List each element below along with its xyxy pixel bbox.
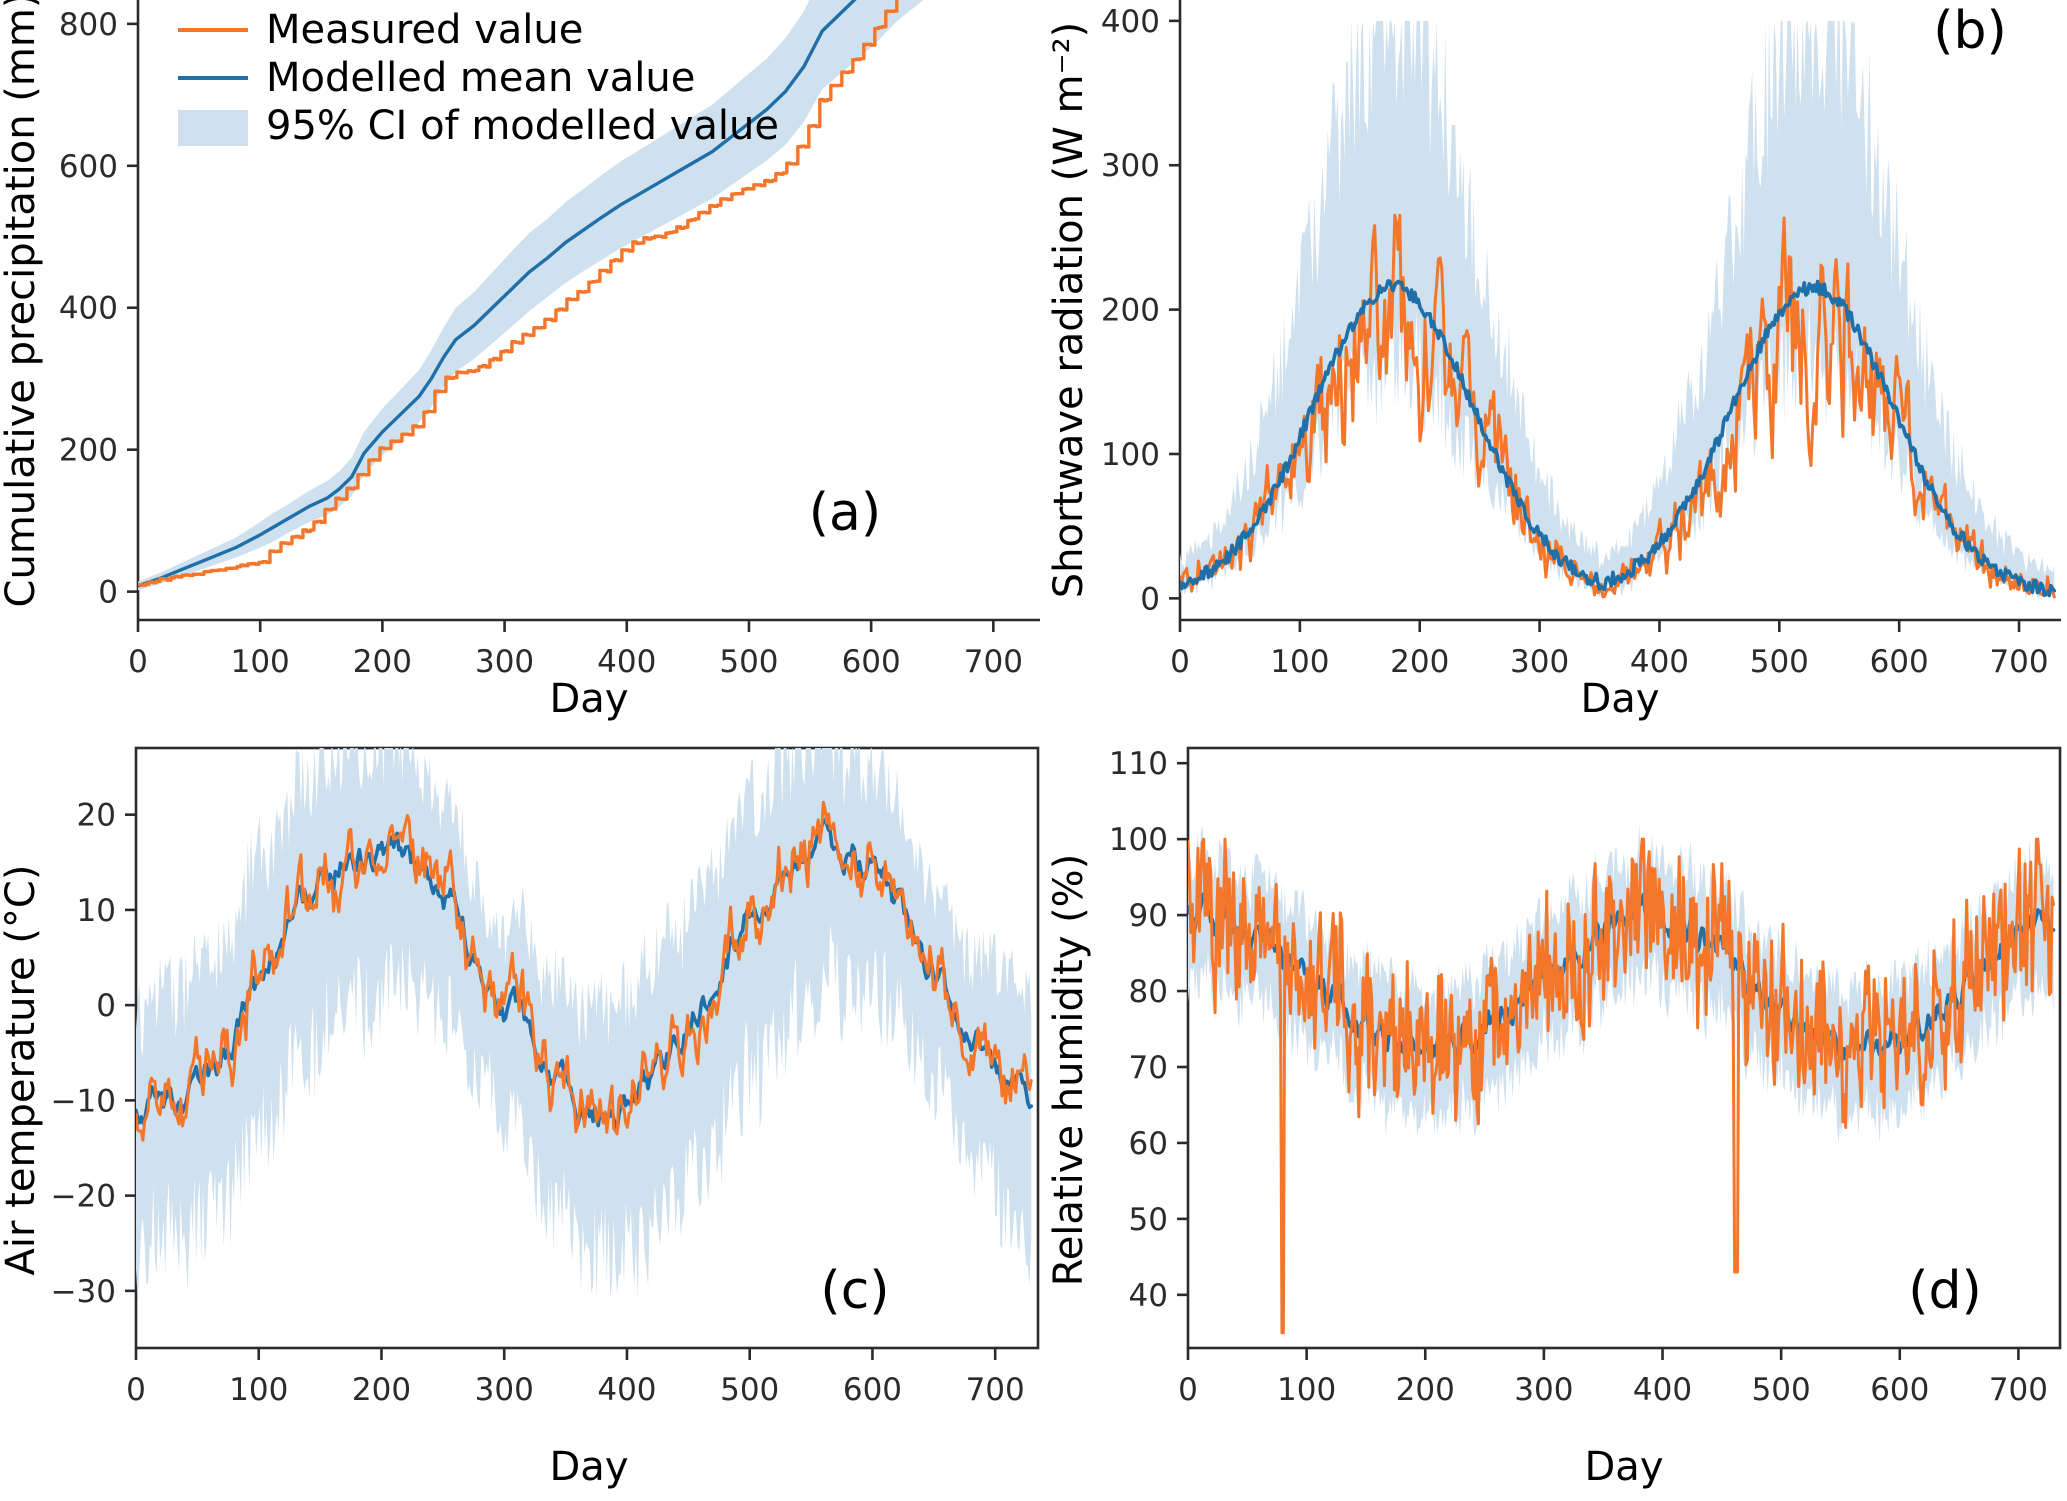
tick-label: 0 [1170, 644, 1190, 680]
tick-label: 200 [1396, 1372, 1455, 1408]
tick-label: 600 [842, 644, 901, 680]
tick-label: 0 [96, 988, 116, 1024]
tick-label: 600 [1870, 644, 1929, 680]
tick-label: 400 [1630, 644, 1689, 680]
tick-label: 300 [1510, 644, 1569, 680]
tick-label: 300 [475, 1372, 534, 1408]
panel-d-x-ticks: 0100200300400500600700 [1178, 1348, 2048, 1408]
tick-label: 800 [59, 7, 118, 43]
tick-label: 70 [1129, 1050, 1168, 1086]
tick-label: 700 [966, 1372, 1025, 1408]
tick-label: 200 [352, 1372, 411, 1408]
panel-c: Air temperature (°C) −30−20−1001020 0100… [0, 740, 1040, 1501]
panel-b-tag: (b) [1933, 1, 2007, 61]
tick-label: 500 [719, 644, 778, 680]
tick-label: 200 [59, 433, 118, 469]
tick-label: 90 [1129, 898, 1168, 934]
tick-label: 110 [1109, 746, 1168, 782]
panel-a-x-ticks: 0100200300400500600700 [128, 620, 1023, 680]
tick-label: 20 [77, 798, 116, 834]
tick-label: 400 [597, 1372, 656, 1408]
panel-c-tag: (c) [820, 1261, 889, 1321]
multi-panel-figure: Cumulative precipitation (mm) 0200400600… [0, 0, 2067, 1501]
panel-a-xlabel: Day [550, 676, 629, 722]
tick-label: 600 [59, 149, 118, 185]
tick-label: 100 [229, 1372, 288, 1408]
tick-label: 10 [77, 893, 116, 929]
panel-b-x-ticks: 0100200300400500600700 [1170, 620, 2048, 680]
tick-label: 700 [1989, 644, 2048, 680]
panel-b-xlabel: Day [1581, 676, 1660, 722]
legend-label-modelled: Modelled mean value [266, 55, 695, 101]
panel-b-ylabel: Shortwave radiation (W m⁻²) [1046, 22, 1092, 598]
panel-c-x-ticks: 0100200300400500600700 [126, 1348, 1025, 1408]
tick-label: 500 [1752, 1372, 1811, 1408]
panel-b-y-ticks: 0100200300400 [1101, 4, 1180, 617]
panel-d: Relative humidity (%) 405060708090100110… [1040, 740, 2067, 1501]
panel-a-tag: (a) [809, 483, 881, 543]
tick-label: 80 [1129, 974, 1168, 1010]
panel-d-y-ticks: 405060708090100110 [1109, 746, 1188, 1314]
tick-label: 600 [843, 1372, 902, 1408]
tick-label: 600 [1870, 1372, 1929, 1408]
tick-label: 200 [1101, 293, 1160, 329]
tick-label: 0 [98, 575, 118, 611]
panel-a-ylabel: Cumulative precipitation (mm) [0, 0, 44, 607]
tick-label: 100 [1101, 437, 1160, 473]
tick-label: −30 [51, 1274, 116, 1310]
panel-c-ci-band [136, 685, 1031, 1301]
tick-label: 200 [353, 644, 412, 680]
panel-c-y-ticks: −30−20−1001020 [51, 798, 136, 1310]
legend-label-ci: 95% CI of modelled value [266, 103, 779, 149]
panel-c-ylabel: Air temperature (°C) [0, 865, 44, 1276]
tick-label: 700 [1989, 1372, 2048, 1408]
tick-label: 300 [1101, 148, 1160, 184]
tick-label: 0 [128, 644, 148, 680]
tick-label: 0 [1140, 581, 1160, 617]
tick-label: 400 [59, 291, 118, 327]
tick-label: 0 [1178, 1372, 1198, 1408]
legend-swatch-ci [178, 110, 248, 146]
tick-label: 400 [597, 644, 656, 680]
tick-label: 200 [1390, 644, 1449, 680]
tick-label: 700 [964, 644, 1023, 680]
legend-label-measured: Measured value [266, 7, 583, 53]
tick-label: −20 [51, 1179, 116, 1215]
tick-label: 100 [1277, 1372, 1336, 1408]
tick-label: 400 [1101, 4, 1160, 40]
tick-label: 100 [1109, 822, 1168, 858]
tick-label: 60 [1129, 1126, 1168, 1162]
tick-label: 0 [126, 1372, 146, 1408]
tick-label: 100 [1270, 644, 1329, 680]
tick-label: −10 [51, 1083, 116, 1119]
legend: Measured value Modelled mean value 95% C… [170, 0, 810, 150]
panel-b: Shortwave radiation (W m⁻²) 010020030040… [1040, 0, 2067, 740]
panel-a-y-ticks: 02004006008001000 [39, 0, 138, 611]
tick-label: 500 [1750, 644, 1809, 680]
panel-d-tag: (d) [1908, 1261, 1982, 1321]
panel-d-xlabel: Day [1585, 1444, 1664, 1490]
tick-label: 300 [1514, 1372, 1573, 1408]
tick-label: 300 [475, 644, 534, 680]
panel-d-ylabel: Relative humidity (%) [1046, 854, 1092, 1287]
tick-label: 40 [1129, 1278, 1168, 1314]
panel-d-measured-line [1188, 839, 2054, 1333]
tick-label: 50 [1129, 1202, 1168, 1238]
tick-label: 100 [231, 644, 290, 680]
panel-c-xlabel: Day [550, 1444, 629, 1490]
tick-label: 400 [1633, 1372, 1692, 1408]
tick-label: 500 [720, 1372, 779, 1408]
